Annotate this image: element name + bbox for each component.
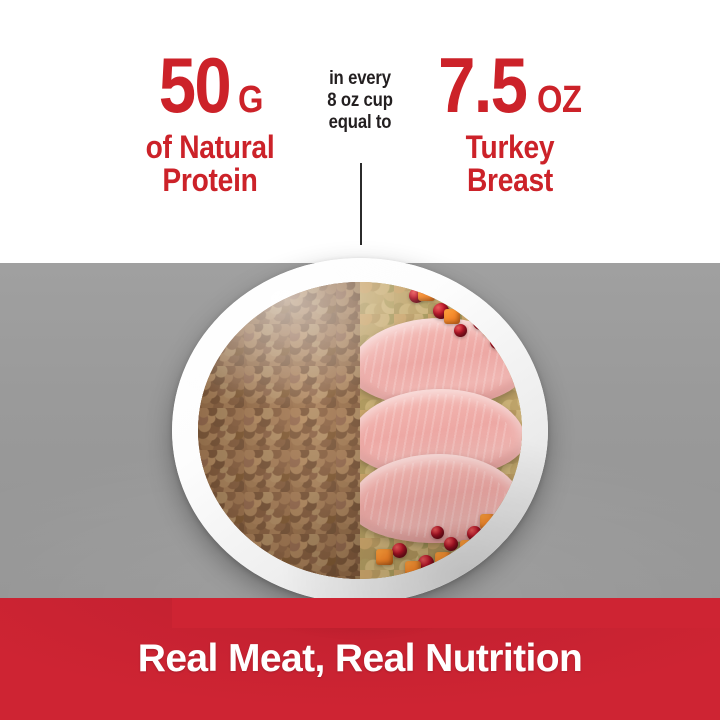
tagline-text: Real Meat, Real Nutrition: [138, 637, 582, 681]
tagline-banner: Real Meat, Real Nutrition: [0, 598, 720, 720]
sweet-potato-cube: [460, 540, 475, 555]
cranberry: [392, 543, 407, 558]
sweet-potato-cube: [405, 561, 421, 576]
sweet-potato-cube: [483, 321, 498, 336]
protein-stat-block: 50G of Natural Protein: [110, 52, 310, 196]
sweet-potato-cube: [444, 309, 460, 324]
white-bowl: [172, 258, 548, 603]
kibble-shading: [198, 282, 360, 579]
turkey-stat-block: 7.5OZ Turkey Breast: [410, 52, 610, 196]
turkey-amount-line: 7.5OZ: [410, 52, 610, 119]
protein-unit: G: [238, 84, 263, 117]
turkey-value: 7.5: [439, 52, 527, 119]
marketing-infographic: 50G of Natural Protein in every 8 oz cup…: [0, 0, 720, 720]
equivalence-line1: in every: [312, 68, 409, 90]
sweet-potato-cube: [418, 285, 435, 301]
sweet-potato-cube: [480, 514, 495, 529]
sweet-potato-cube: [376, 549, 393, 565]
equivalence-text: in every 8 oz cup equal to: [305, 68, 415, 135]
turkey-caption: Turkey Breast: [410, 131, 610, 196]
sweet-potato-cube: [467, 297, 483, 313]
header-section: 50G of Natural Protein in every 8 oz cup…: [0, 0, 720, 263]
bowl-photo: [172, 258, 548, 603]
sweet-potato-cube: [435, 552, 451, 568]
vertical-divider-rule: [360, 163, 362, 245]
protein-caption-line2: Protein: [122, 164, 298, 197]
protein-caption-line1: of Natural: [122, 131, 298, 164]
turkey-half: [360, 282, 522, 579]
cranberry: [490, 335, 504, 349]
protein-value: 50: [158, 52, 229, 119]
bowl-contents: [198, 282, 522, 579]
turkey-caption-line1: Turkey: [422, 131, 598, 164]
cranberry: [454, 324, 467, 337]
turkey-caption-line2: Breast: [422, 164, 598, 197]
cranberry: [444, 537, 458, 551]
cranberry: [431, 526, 444, 539]
turkey-unit: OZ: [537, 84, 582, 117]
protein-amount-line: 50G: [110, 52, 310, 119]
equivalence-line2: 8 oz cup: [312, 90, 409, 112]
equivalence-note: in every 8 oz cup equal to: [305, 68, 415, 135]
equivalence-line3: equal to: [312, 112, 409, 134]
kibble-half: [198, 282, 360, 579]
protein-caption: of Natural Protein: [110, 131, 310, 196]
